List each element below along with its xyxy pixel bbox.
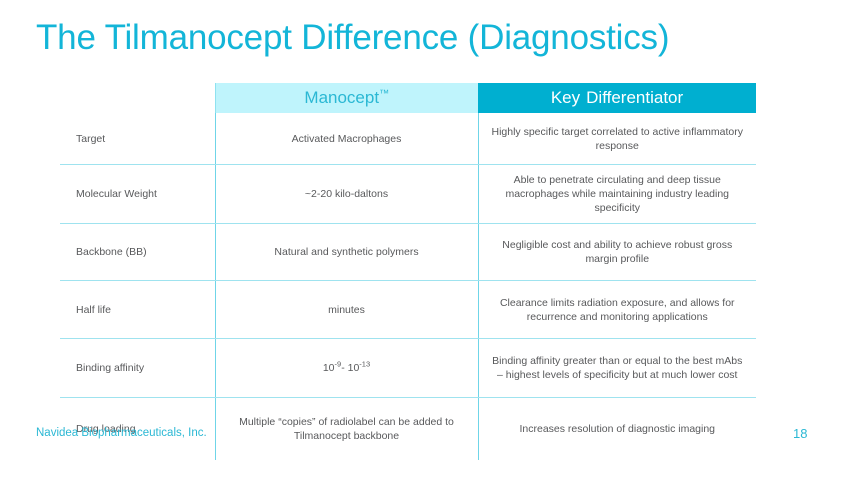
row-label-backbone: Backbone (BB) xyxy=(60,224,215,281)
cell-key-molecular-weight: Able to penetrate circulating and deep t… xyxy=(478,165,756,224)
cell-manocept-target: Activated Macrophages xyxy=(215,113,478,165)
cell-key-drug-loading: Increases resolution of diagnostic imagi… xyxy=(478,398,756,461)
cell-key-binding-affinity: Binding affinity greater than or equal t… xyxy=(478,339,756,398)
cell-manocept-half-life: minutes xyxy=(215,281,478,339)
cell-manocept-binding-affinity: 10-9- 10-13 xyxy=(215,339,478,398)
table-row: Backbone (BB) Natural and synthetic poly… xyxy=(60,224,756,281)
affinity-separator: - 10 xyxy=(341,362,359,374)
page-title: The Tilmanocept Difference (Diagnostics) xyxy=(36,17,816,59)
table-header-row: Manocept™ KeyDifferentiator xyxy=(60,83,756,113)
affinity-exponent-2: -13 xyxy=(359,360,370,369)
table-row: Target Activated Macrophages Highly spec… xyxy=(60,113,756,165)
comparison-table: Manocept™ KeyDifferentiator Target Activ… xyxy=(60,83,756,460)
table-row: Binding affinity 10-9- 10-13 Binding aff… xyxy=(60,339,756,398)
column-header-differentiator-word: Differentiator xyxy=(586,88,683,107)
table-body: Target Activated Macrophages Highly spec… xyxy=(60,113,756,460)
column-header-manocept: Manocept™ xyxy=(215,83,478,113)
comparison-table-wrapper: Manocept™ KeyDifferentiator Target Activ… xyxy=(60,83,756,460)
table-row: Half life minutes Clearance limits radia… xyxy=(60,281,756,339)
row-label-molecular-weight: Molecular Weight xyxy=(60,165,215,224)
footer-company-name: Navidea Biopharmaceuticals, Inc. xyxy=(36,427,207,439)
trademark-symbol: ™ xyxy=(379,88,389,99)
column-header-key-differentiator: KeyDifferentiator xyxy=(478,83,756,113)
column-header-key-word: Key xyxy=(551,88,580,107)
cell-manocept-molecular-weight: ~2-20 kilo-daltons xyxy=(215,165,478,224)
table-header: Manocept™ KeyDifferentiator xyxy=(60,83,756,113)
row-label-binding-affinity: Binding affinity xyxy=(60,339,215,398)
cell-key-half-life: Clearance limits radiation exposure, and… xyxy=(478,281,756,339)
cell-key-target: Highly specific target correlated to act… xyxy=(478,113,756,165)
cell-key-backbone: Negligible cost and ability to achieve r… xyxy=(478,224,756,281)
column-header-manocept-label: Manocept xyxy=(304,88,379,107)
cell-manocept-backbone: Natural and synthetic polymers xyxy=(215,224,478,281)
row-label-half-life: Half life xyxy=(60,281,215,339)
row-label-target: Target xyxy=(60,113,215,165)
column-header-blank xyxy=(60,83,215,113)
cell-manocept-drug-loading: Multiple “copies” of radiolabel can be a… xyxy=(215,398,478,461)
page-number: 18 xyxy=(793,426,807,441)
table-row: Molecular Weight ~2-20 kilo-daltons Able… xyxy=(60,165,756,224)
affinity-base-1: 10 xyxy=(323,362,335,374)
